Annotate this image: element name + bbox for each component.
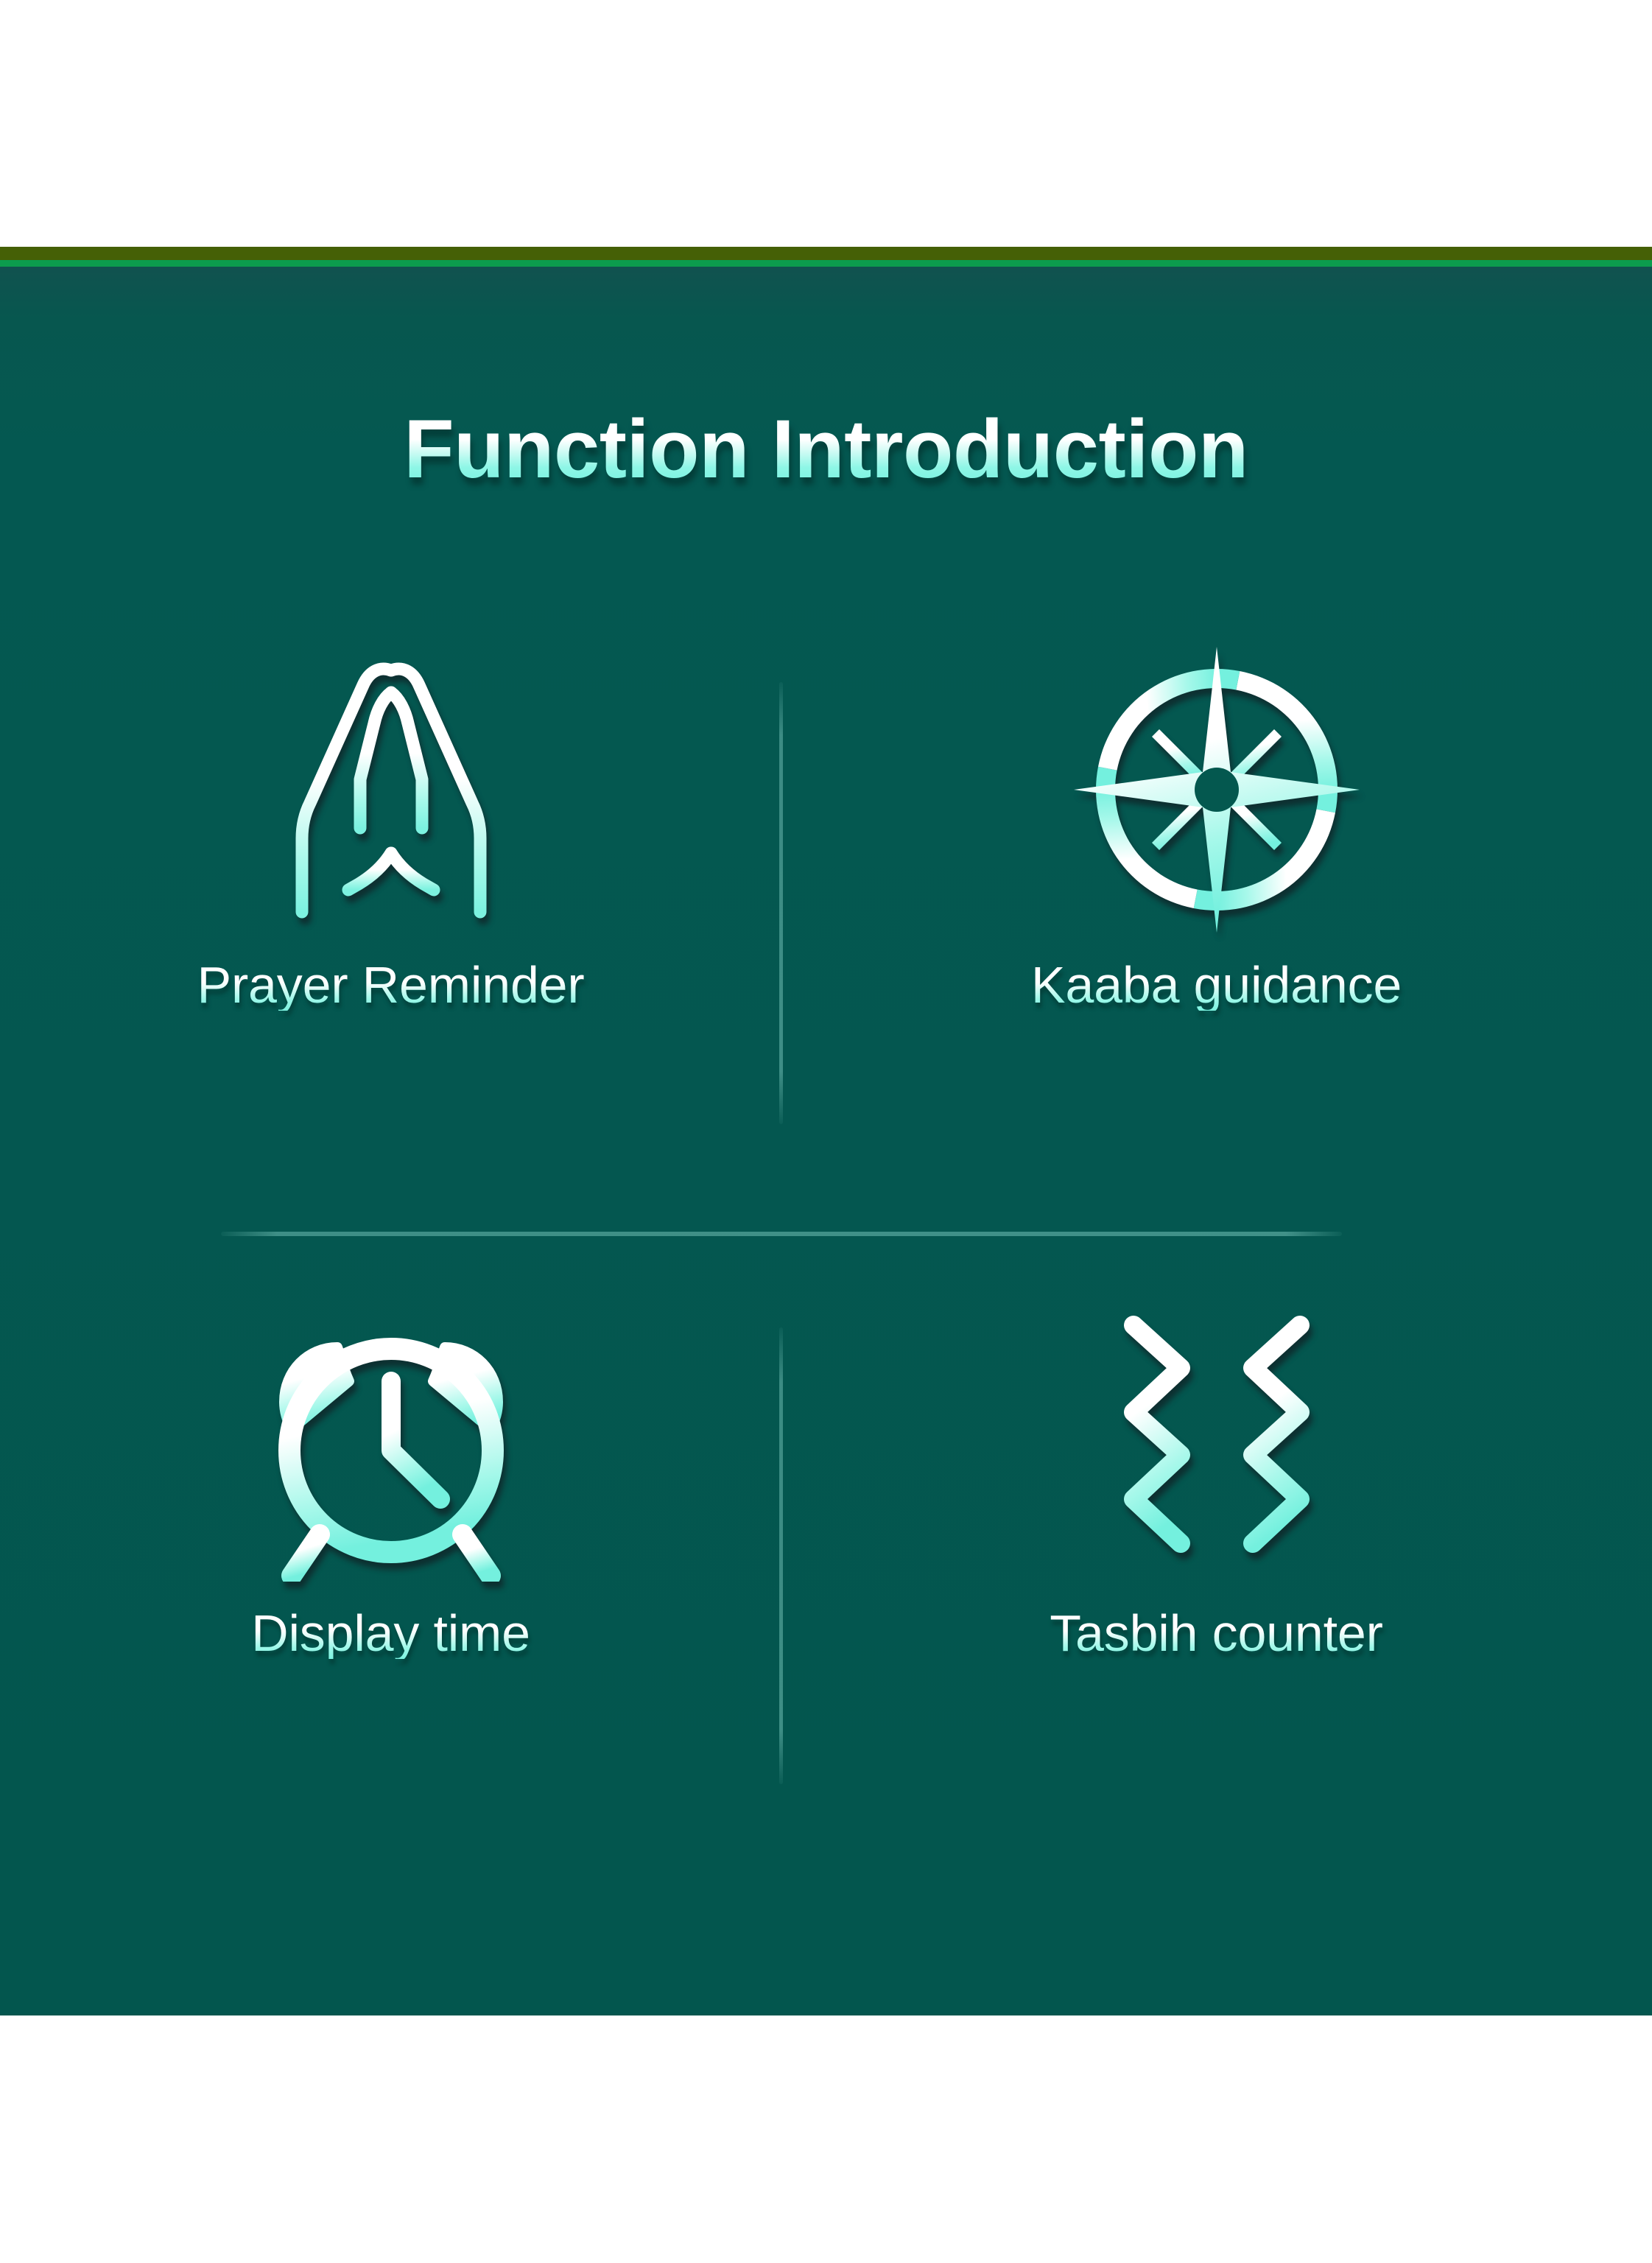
feature-label: Display time [251, 1607, 530, 1659]
feature-card-tasbih-counter[interactable]: Tasbih counter [826, 1291, 1607, 1832]
feature-label: Prayer Reminder [197, 959, 584, 1011]
feature-label: Tasbih counter [1050, 1607, 1382, 1659]
horizontal-divider [221, 1232, 1342, 1236]
accent-band-green [0, 260, 1652, 267]
page-title: Function Introduction [0, 408, 1652, 491]
feature-grid: Prayer Reminder [0, 642, 1652, 1895]
tasbih-zigzag-icon [1117, 1291, 1316, 1585]
feature-card-prayer-reminder[interactable]: Prayer Reminder [0, 642, 781, 1184]
vertical-divider-top [779, 682, 783, 1124]
feature-panel: Function Introduction [0, 267, 1652, 2015]
alarm-clock-icon [255, 1291, 527, 1585]
compass-center-dot [1195, 768, 1239, 812]
feature-card-display-time[interactable]: Display time [0, 1291, 781, 1832]
promo-page: Function Introduction [0, 0, 1652, 2263]
feature-card-kaaba-guidance[interactable]: Kaaba guidance [826, 642, 1607, 1184]
praying-hands-icon [281, 642, 502, 937]
feature-label: Kaaba guidance [1031, 959, 1402, 1011]
accent-band-olive [0, 247, 1652, 260]
compass-rose-icon [1069, 642, 1364, 937]
vertical-divider-bottom [779, 1327, 783, 1784]
